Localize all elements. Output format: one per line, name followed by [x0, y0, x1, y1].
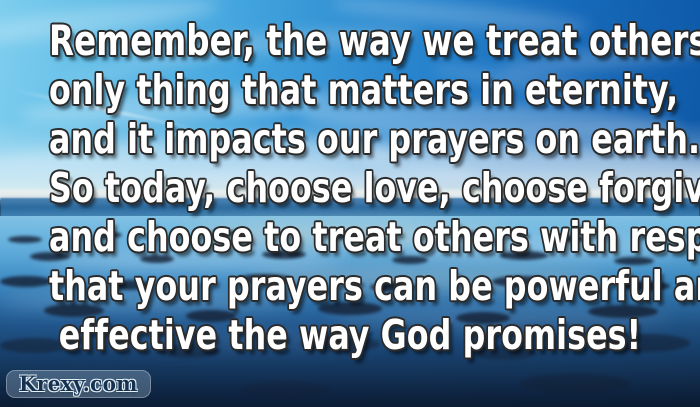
- quote-line: only thing that matters in eternity,: [49, 70, 651, 111]
- quote-line: Remember, the way we treat others is the: [49, 20, 651, 62]
- quote-image: Remember, the way we treat others is the…: [0, 0, 700, 407]
- quote-line: and choose to treat others with respect …: [49, 217, 651, 258]
- quote-line: that your prayers can be powerful and: [49, 266, 651, 307]
- watermark-label: Krexy.com: [19, 372, 138, 395]
- quote-line: effective the way God promises!: [49, 315, 651, 356]
- quote-line: and it impacts our prayers on earth.: [49, 119, 651, 160]
- watermark-badge[interactable]: Krexy.com: [6, 370, 151, 398]
- quote-line: So today, choose love, choose forgivenes…: [49, 168, 651, 209]
- quote-text-block: Remember, the way we treat others is the…: [0, 20, 700, 364]
